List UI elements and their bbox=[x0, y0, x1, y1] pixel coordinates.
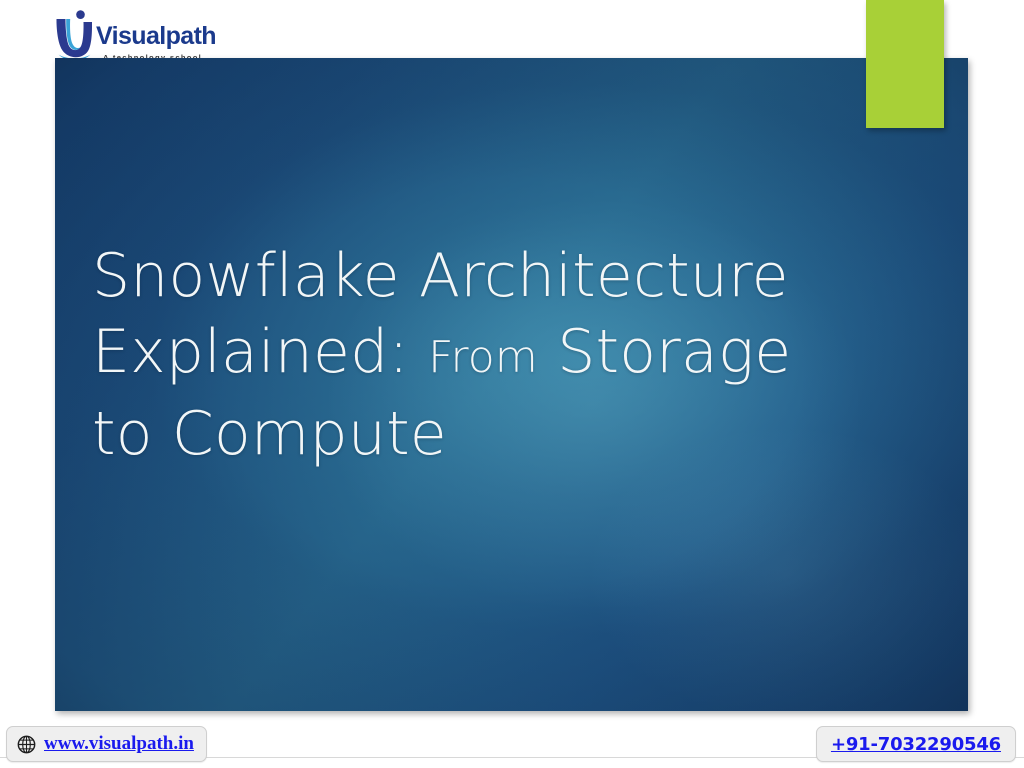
globe-icon bbox=[17, 735, 36, 754]
presentation-slide: Visualpath A technology school Snowflake… bbox=[0, 0, 1024, 768]
slide-title-line-3: to Compute bbox=[92, 396, 892, 472]
brand-wordmark: Visualpath bbox=[96, 24, 216, 49]
website-link-text[interactable]: www.visualpath.in bbox=[44, 733, 194, 755]
green-accent-rectangle bbox=[866, 0, 944, 128]
slide-title-emphasis-from: From bbox=[428, 332, 538, 383]
phone-number-text[interactable]: +91-7032290546 bbox=[831, 734, 1001, 755]
slide-title-line-1: Snowflake Architecture bbox=[92, 238, 892, 314]
phone-number-button[interactable]: +91-7032290546 bbox=[816, 726, 1016, 762]
website-link-button[interactable]: www.visualpath.in bbox=[6, 726, 207, 762]
visualpath-v-logo-icon bbox=[52, 10, 98, 62]
slide-title-line-2: Explained: From Storage bbox=[92, 314, 892, 396]
slide-title: Snowflake Architecture Explained: From S… bbox=[92, 238, 892, 472]
